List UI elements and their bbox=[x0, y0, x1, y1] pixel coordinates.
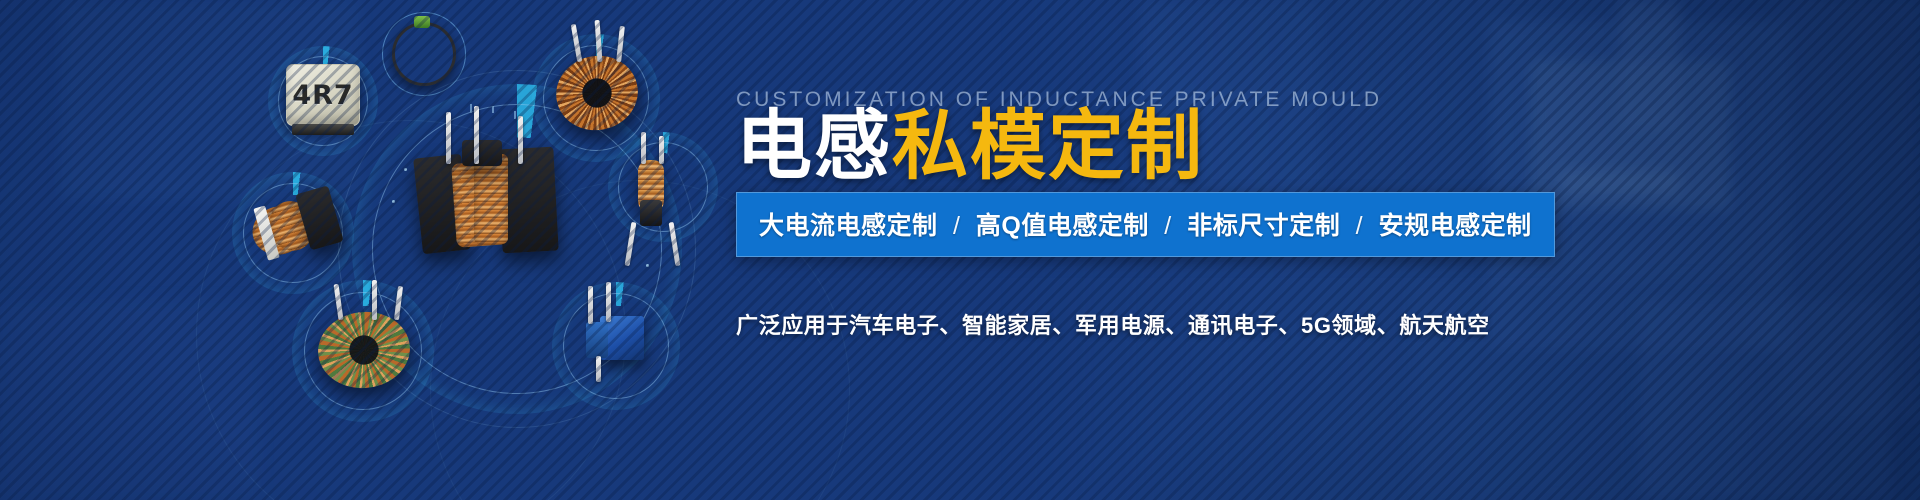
rod-lead-top-2 bbox=[659, 136, 664, 164]
blue-part-core bbox=[586, 322, 608, 358]
rod-core-body bbox=[640, 200, 662, 226]
chip-body: 4R7 bbox=[286, 64, 360, 126]
pill-item-1[interactable]: 高Q值电感定制 bbox=[976, 212, 1149, 240]
blue-part-lead-2 bbox=[606, 282, 611, 322]
rod-lead-top-1 bbox=[641, 132, 646, 164]
promo-banner: 4R7 bbox=[0, 0, 1920, 500]
hud-dot bbox=[646, 264, 649, 267]
center-lead-1 bbox=[446, 112, 451, 164]
service-pill-bar[interactable]: 大电流电感定制 / 高Q值电感定制 / 非标尺寸定制 / 安规电感定制 bbox=[736, 192, 1555, 257]
pill-separator-1: / bbox=[1153, 212, 1182, 240]
hud-tick bbox=[492, 106, 494, 113]
center-bobbin-top-cap bbox=[462, 140, 502, 166]
center-lead-3 bbox=[518, 116, 523, 164]
chip-marking-label: 4R7 bbox=[292, 80, 353, 111]
banner-copy-block: CUSTOMIZATION OF INDUCTANCE PRIVATE MOUL… bbox=[736, 0, 1866, 500]
banner-description-text: 广泛应用于汽车电子、智能家居、军用电源、通讯电子、5G领域、航天航空 bbox=[736, 308, 1490, 340]
blue-part-lead-3 bbox=[596, 356, 601, 382]
hud-tick bbox=[514, 111, 516, 119]
product-wire-loop bbox=[392, 22, 456, 86]
headline-yellow-part: 私模定制 bbox=[892, 101, 1204, 190]
hud-dot bbox=[392, 200, 395, 203]
headline-white-part: 电感 bbox=[736, 101, 892, 190]
product-center-inductor-cluster bbox=[418, 138, 582, 260]
hud-dot bbox=[404, 168, 407, 171]
pill-item-0[interactable]: 大电流电感定制 bbox=[759, 212, 938, 240]
pill-separator-2: / bbox=[1345, 212, 1374, 240]
center-lead-2 bbox=[474, 106, 479, 164]
pill-item-3[interactable]: 安规电感定制 bbox=[1379, 212, 1532, 240]
pill-item-2[interactable]: 非标尺寸定制 bbox=[1187, 212, 1340, 240]
pill-separator-0: / bbox=[942, 212, 971, 240]
chip-footprint bbox=[292, 124, 354, 135]
green-toroid-lead-2 bbox=[372, 280, 377, 320]
center-copper-coil-right bbox=[474, 154, 508, 244]
banner-headline: 电感私模定制 bbox=[736, 108, 1204, 184]
hud-tick bbox=[470, 104, 472, 113]
wire-loop-bead bbox=[414, 16, 430, 28]
product-smd-inductor-4r7: 4R7 bbox=[286, 64, 360, 126]
blue-part-lead-1 bbox=[588, 286, 593, 324]
